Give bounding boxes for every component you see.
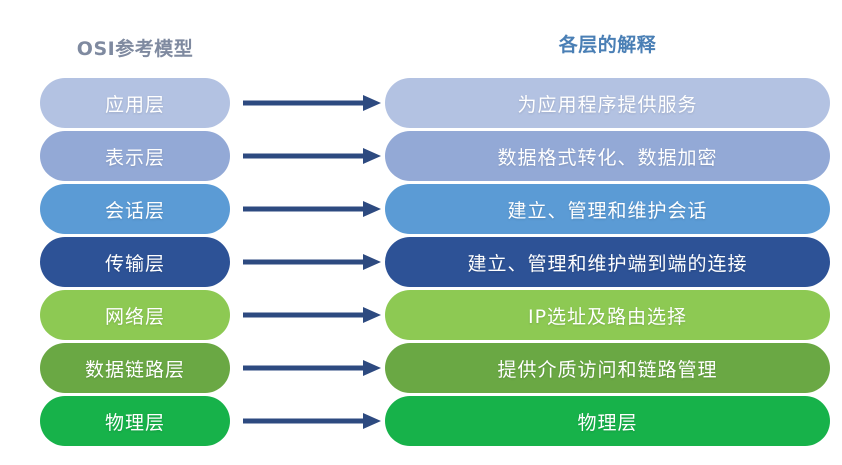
layer-description-pill[interactable]: 建立、管理和维护会话 xyxy=(385,184,830,234)
arrow-right-icon xyxy=(243,254,381,270)
layer-description-pill[interactable]: 为应用程序提供服务 xyxy=(385,78,830,128)
layer-description-pill[interactable]: 物理层 xyxy=(385,396,830,446)
layer-name-pill[interactable]: 应用层 xyxy=(40,78,230,128)
layer-name-pill[interactable]: 网络层 xyxy=(40,290,230,340)
arrow-right-icon xyxy=(243,95,381,111)
column-header-layer-explanation: 各层的解释 xyxy=(385,30,830,57)
layer-row: 表示层数据格式转化、数据加密 xyxy=(0,131,842,181)
layer-description-pill[interactable]: 提供介质访问和链路管理 xyxy=(385,343,830,393)
osi-model-diagram: OSI参考模型 各层的解释 应用层为应用程序提供服务表示层数据格式转化、数据加密… xyxy=(0,0,842,465)
layer-row: 传输层建立、管理和维护端到端的连接 xyxy=(0,237,842,287)
layer-row: 数据链路层提供介质访问和链路管理 xyxy=(0,343,842,393)
arrow-right-icon xyxy=(243,413,381,429)
arrow-right-icon xyxy=(243,201,381,217)
arrow-right-icon xyxy=(243,148,381,164)
arrow-right-icon xyxy=(243,307,381,323)
layer-description-pill[interactable]: IP选址及路由选择 xyxy=(385,290,830,340)
layer-description-pill[interactable]: 建立、管理和维护端到端的连接 xyxy=(385,237,830,287)
layer-name-pill[interactable]: 物理层 xyxy=(40,396,230,446)
layer-row: 物理层物理层 xyxy=(0,396,842,446)
arrow-right-icon xyxy=(243,360,381,376)
layer-name-pill[interactable]: 数据链路层 xyxy=(40,343,230,393)
layer-row: 会话层建立、管理和维护会话 xyxy=(0,184,842,234)
layer-description-pill[interactable]: 数据格式转化、数据加密 xyxy=(385,131,830,181)
layer-row: 应用层为应用程序提供服务 xyxy=(0,78,842,128)
layer-name-pill[interactable]: 表示层 xyxy=(40,131,230,181)
layer-row: 网络层IP选址及路由选择 xyxy=(0,290,842,340)
layer-name-pill[interactable]: 会话层 xyxy=(40,184,230,234)
column-header-osi-model: OSI参考模型 xyxy=(40,34,230,61)
layer-name-pill[interactable]: 传输层 xyxy=(40,237,230,287)
